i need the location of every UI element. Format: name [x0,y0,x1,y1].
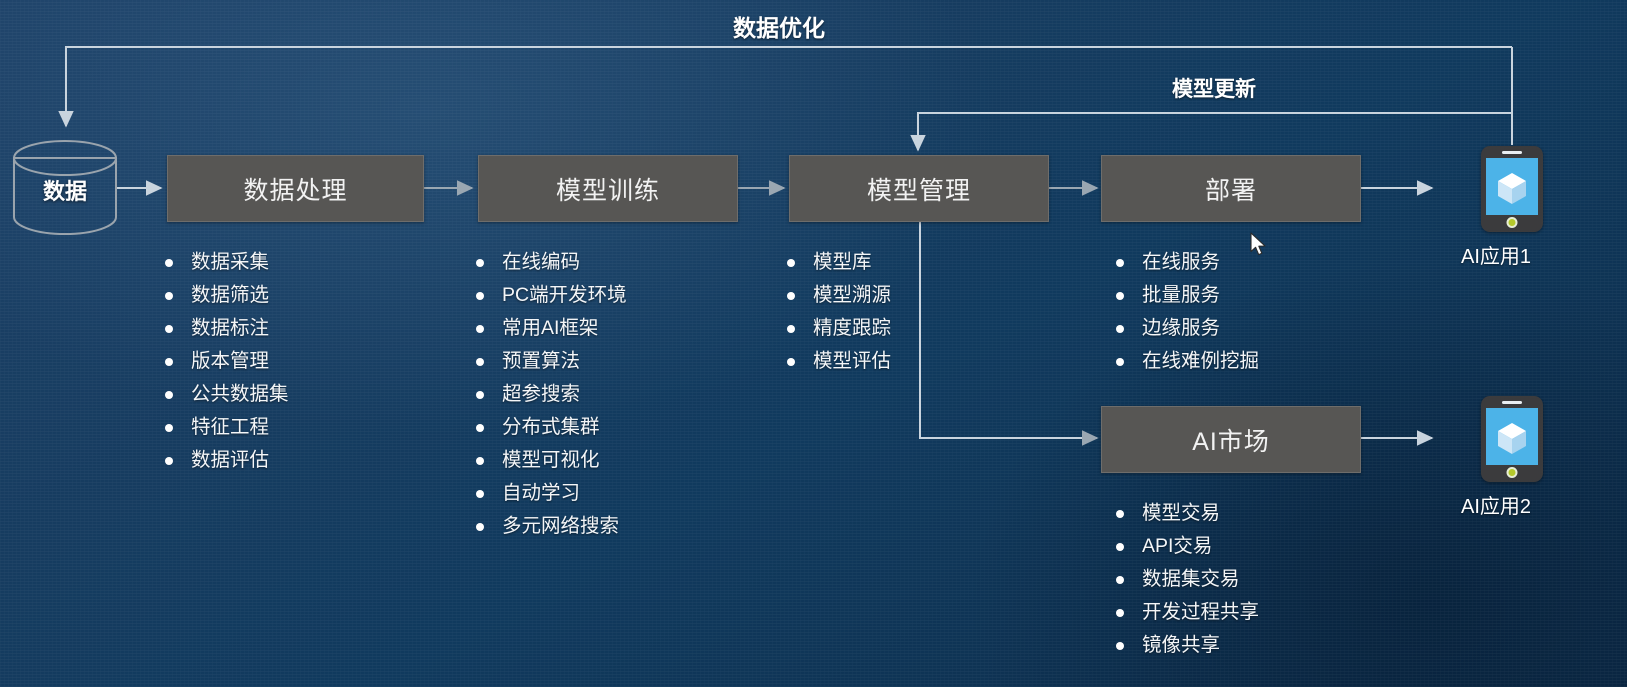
feature-list-model-training: 在线编码PC端开发环境常用AI框架预置算法超参搜索分布式集群模型可视化自动学习多… [476,246,627,543]
bullet-dot-icon [165,325,173,333]
bullet-dot-icon [787,292,795,300]
bullet-dot-icon [165,457,173,465]
list-item: 数据评估 [165,444,289,477]
list-item: 镜像共享 [1116,629,1259,662]
stage-box-ai-market[interactable]: AI市场 [1101,406,1361,473]
phone-screen [1486,408,1538,465]
list-item: 版本管理 [165,345,289,378]
bullet-dot-icon [476,490,484,498]
stage-title: AI市场 [1192,422,1270,458]
list-item-label: 数据标注 [191,319,269,339]
mouse-cursor [1250,232,1268,258]
bullet-dot-icon [165,424,173,432]
feature-list-model-management: 模型库模型溯源精度跟踪模型评估 [787,246,891,378]
list-item-label: 批量服务 [1142,286,1220,306]
list-item: 数据筛选 [165,279,289,312]
ai-app-1-caption: AI应用1 [1461,240,1531,269]
list-item: 模型溯源 [787,279,891,312]
list-item: 数据集交易 [1116,563,1259,596]
pipeline-diagram-canvas: 数据优化 模型更新 数据 数据处理 模型训练 模型管理 部署 AI市场 数据采集… [0,0,1627,687]
list-item: API交易 [1116,530,1259,563]
list-item: 自动学习 [476,477,627,510]
list-item-label: 常用AI框架 [502,319,598,339]
stage-box-model-management[interactable]: 模型管理 [789,155,1049,222]
list-item-label: API交易 [1142,537,1212,557]
bullet-dot-icon [1116,576,1124,584]
bullet-dot-icon [476,259,484,267]
bullet-dot-icon [165,259,173,267]
bullet-dot-icon [476,358,484,366]
ai-app-2-caption: AI应用2 [1461,490,1531,519]
list-item-label: 模型溯源 [813,286,891,306]
phone-screen [1486,158,1538,215]
list-item-label: 数据集交易 [1142,570,1240,590]
list-item: 在线难例挖掘 [1116,345,1259,378]
list-item: 数据标注 [165,312,289,345]
list-item-label: 公共数据集 [191,385,289,405]
bullet-dot-icon [165,358,173,366]
list-item-label: 在线编码 [502,253,580,273]
stage-box-data-processing[interactable]: 数据处理 [167,155,424,222]
bullet-dot-icon [1116,642,1124,650]
bullet-dot-icon [165,292,173,300]
feature-list-ai-market: 模型交易API交易数据集交易开发过程共享镜像共享 [1116,497,1259,662]
bullet-dot-icon [476,523,484,531]
wire-model-management-to-ai-market [920,218,1097,438]
bullet-dot-icon [476,457,484,465]
list-item-label: 数据筛选 [191,286,269,306]
loop-label-model-update: 模型更新 [1172,73,1256,103]
stage-title: 模型管理 [867,171,971,207]
bullet-dot-icon [787,259,795,267]
list-item-label: 自动学习 [502,484,580,504]
list-item-label: 精度跟踪 [813,319,891,339]
list-item-label: 分布式集群 [502,418,600,438]
feature-list-deployment: 在线服务批量服务边缘服务在线难例挖掘 [1116,246,1259,378]
stage-title: 部署 [1205,171,1257,207]
bullet-dot-icon [787,325,795,333]
bullet-dot-icon [1116,292,1124,300]
stage-box-model-training[interactable]: 模型训练 [478,155,738,222]
list-item: 模型评估 [787,345,891,378]
list-item: 模型可视化 [476,444,627,477]
list-item: 开发过程共享 [1116,596,1259,629]
list-item: 特征工程 [165,411,289,444]
list-item-label: 特征工程 [191,418,269,438]
stage-title: 模型训练 [556,171,660,207]
list-item-label: 超参搜索 [502,385,580,405]
bullet-dot-icon [476,292,484,300]
bullet-dot-icon [476,391,484,399]
list-item-label: 版本管理 [191,352,269,372]
list-item-label: 数据评估 [191,451,269,471]
list-item-label: 在线服务 [1142,253,1220,273]
list-item-label: 预置算法 [502,352,580,372]
list-item-label: 多元网络搜索 [502,517,619,537]
list-item-label: 边缘服务 [1142,319,1220,339]
list-item: 批量服务 [1116,279,1259,312]
feature-list-data-processing: 数据采集数据筛选数据标注版本管理公共数据集特征工程数据评估 [165,246,289,477]
wire-model-update-loop [918,113,1512,150]
list-item-label: 在线难例挖掘 [1142,352,1259,372]
list-item-label: 镜像共享 [1142,636,1220,656]
phone-home-button[interactable] [1507,217,1518,228]
bullet-dot-icon [1116,259,1124,267]
stage-title: 数据处理 [243,171,347,207]
list-item: 分布式集群 [476,411,627,444]
list-item: 超参搜索 [476,378,627,411]
bullet-dot-icon [1116,543,1124,551]
list-item: 常用AI框架 [476,312,627,345]
ai-app-1-device[interactable] [1481,146,1543,232]
list-item-label: 开发过程共享 [1142,603,1259,623]
bullet-dot-icon [476,424,484,432]
cube-icon [1492,417,1532,457]
list-item: 在线编码 [476,246,627,279]
list-item: 公共数据集 [165,378,289,411]
list-item: 预置算法 [476,345,627,378]
cube-icon [1492,167,1532,207]
database-label: 数据 [30,174,100,206]
bullet-dot-icon [787,358,795,366]
bullet-dot-icon [476,325,484,333]
list-item: 模型库 [787,246,891,279]
wire-data-optimization-loop [66,47,1512,145]
phone-home-button[interactable] [1507,467,1518,478]
list-item-label: 模型可视化 [502,451,600,471]
phone-speaker-icon [1502,401,1522,404]
list-item-label: PC端开发环境 [502,286,627,306]
bullet-dot-icon [165,391,173,399]
phone-speaker-icon [1502,151,1522,154]
list-item-label: 模型评估 [813,352,891,372]
list-item: 在线服务 [1116,246,1259,279]
bullet-dot-icon [1116,358,1124,366]
ai-app-2-device[interactable] [1481,396,1543,482]
bullet-dot-icon [1116,510,1124,518]
stage-box-deployment[interactable]: 部署 [1101,155,1361,222]
list-item-label: 模型交易 [1142,504,1220,524]
list-item: 模型交易 [1116,497,1259,530]
bullet-dot-icon [1116,609,1124,617]
list-item: 多元网络搜索 [476,510,627,543]
list-item: PC端开发环境 [476,279,627,312]
loop-label-data-optimization: 数据优化 [733,9,825,43]
bullet-dot-icon [1116,325,1124,333]
list-item: 边缘服务 [1116,312,1259,345]
list-item-label: 数据采集 [191,253,269,273]
list-item: 精度跟踪 [787,312,891,345]
list-item-label: 模型库 [813,253,872,273]
list-item: 数据采集 [165,246,289,279]
